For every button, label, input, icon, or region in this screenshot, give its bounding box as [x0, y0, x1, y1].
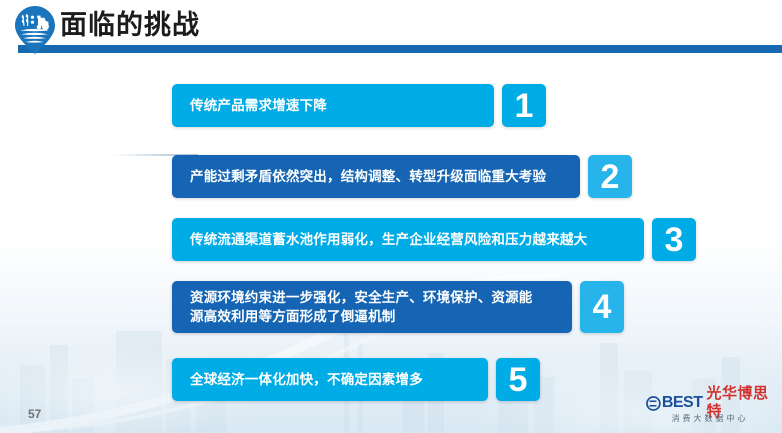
challenge-number-box[interactable]: 2: [588, 155, 632, 198]
challenge-text: 传统产品需求增速下降: [172, 96, 345, 115]
header-divider-bar: [18, 45, 782, 53]
challenge-number: 2: [601, 160, 620, 194]
page-title: 面临的挑战: [60, 9, 200, 42]
page-number: 57: [28, 407, 41, 421]
challenge-bar[interactable]: 全球经济一体化加快，不确定因素增多: [172, 358, 488, 401]
challenge-text: 产能过剩矛盾依然突出，结构调整、转型升级面临重大考验: [172, 167, 564, 186]
challenge-text: 传统流通渠道蓄水池作用弱化，生产企业经营风险和压力越来越大: [172, 230, 605, 249]
challenge-bar[interactable]: 传统流通渠道蓄水池作用弱化，生产企业经营风险和压力越来越大: [172, 218, 644, 261]
challenge-row: 全球经济一体化加快，不确定因素增多 5: [172, 358, 540, 401]
challenge-number: 5: [509, 363, 528, 397]
slide-canvas: 面临的挑战 传统产品需求增速下降 1 产能过剩矛盾依然突出，结构调整、转型升级面…: [0, 0, 782, 433]
challenge-row: 传统产品需求增速下降 1: [172, 84, 546, 127]
challenge-bar[interactable]: 产能过剩矛盾依然突出，结构调整、转型升级面临重大考验: [172, 155, 580, 198]
best-circle-icon: [646, 395, 661, 412]
farm-pin-icon: [12, 4, 58, 56]
challenge-number-box[interactable]: 3: [652, 218, 696, 261]
brand-mark: BEST: [662, 394, 703, 412]
challenge-row: 传统流通渠道蓄水池作用弱化，生产企业经营风险和压力越来越大 3: [172, 218, 696, 261]
challenge-row: 资源环境约束进一步强化，安全生产、环境保护、资源能 源高效利用等方面形成了倒逼机…: [172, 281, 624, 333]
brand-logo-row: BEST 光华博思特: [646, 393, 774, 413]
challenge-bar[interactable]: 传统产品需求增速下降: [172, 84, 494, 127]
challenge-row: 产能过剩矛盾依然突出，结构调整、转型升级面临重大考验 2: [172, 155, 632, 198]
challenge-number: 4: [593, 290, 612, 324]
challenge-number: 3: [665, 223, 684, 257]
slide-header: 面临的挑战: [0, 0, 782, 58]
challenge-number-box[interactable]: 4: [580, 281, 624, 333]
challenge-bar[interactable]: 资源环境约束进一步强化，安全生产、环境保护、资源能 源高效利用等方面形成了倒逼机…: [172, 281, 572, 333]
challenge-text: 资源环境约束进一步强化，安全生产、环境保护、资源能 源高效利用等方面形成了倒逼机…: [172, 288, 551, 326]
challenge-text: 全球经济一体化加快，不确定因素增多: [172, 370, 441, 389]
challenge-number-box[interactable]: 5: [496, 358, 540, 401]
challenge-number: 1: [515, 89, 534, 123]
challenge-number-box[interactable]: 1: [502, 84, 546, 127]
brand-logo: BEST 光华博思特 消费大数据中心: [646, 393, 774, 427]
